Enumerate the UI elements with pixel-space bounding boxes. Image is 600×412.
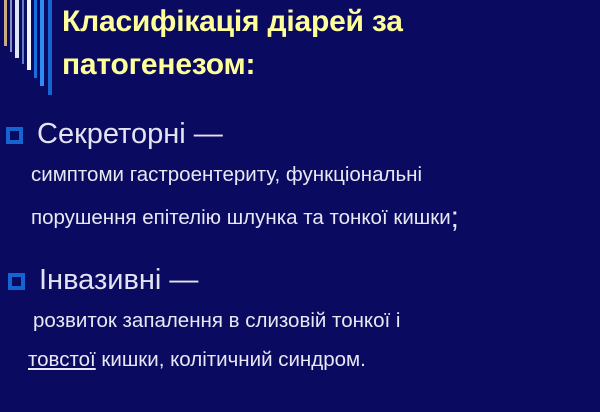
square-bullet-icon bbox=[6, 127, 23, 144]
vertical-stripes-ornament bbox=[0, 0, 60, 110]
page-title: Класифікація діарей за патогенезом: bbox=[62, 0, 596, 86]
square-bullet-icon bbox=[8, 273, 25, 290]
slide-canvas: Класифікація діарей за патогенезом: Секр… bbox=[0, 0, 600, 412]
bullet-invasive-subline-1: розвиток запалення в слизовій тонкої і bbox=[33, 308, 400, 333]
stripe-5 bbox=[27, 0, 31, 70]
bullet-secretory-subline-2-text: порушення епітелію шлунка та тонкої кишк… bbox=[31, 206, 451, 229]
stripe-2 bbox=[10, 0, 12, 52]
stripe-3 bbox=[15, 0, 19, 58]
bullet-invasive-subline-2-rest: кишки, колітичний синдром. bbox=[96, 348, 366, 371]
stripe-7 bbox=[40, 0, 44, 86]
stripe-1 bbox=[4, 0, 7, 46]
bullet-label-invasive: Інвазивні — bbox=[39, 264, 198, 296]
bullet-item-secretory: Секреторні — bbox=[0, 110, 223, 158]
stripe-4 bbox=[22, 0, 24, 64]
page-title-line-2: патогенезом: bbox=[62, 43, 596, 86]
stripe-6 bbox=[34, 0, 37, 78]
emphasized-word-tovstoi: товстої bbox=[28, 348, 96, 371]
bullet-item-invasive: Інвазивні — bbox=[2, 256, 198, 304]
bullet-invasive-subline-2: товстої кишки, колітичний синдром. bbox=[28, 347, 366, 372]
trailing-semicolon: ; bbox=[451, 201, 459, 234]
page-title-line-1: Класифікація діарей за bbox=[62, 0, 596, 43]
bullet-secretory-subline-1: симптоми гастроентериту, функціональні bbox=[31, 162, 422, 187]
bullet-label-secretory: Секреторні — bbox=[37, 118, 223, 150]
bullet-secretory-subline-2: порушення епітелію шлунка та тонкої кишк… bbox=[31, 205, 459, 230]
stripe-8 bbox=[48, 0, 52, 95]
